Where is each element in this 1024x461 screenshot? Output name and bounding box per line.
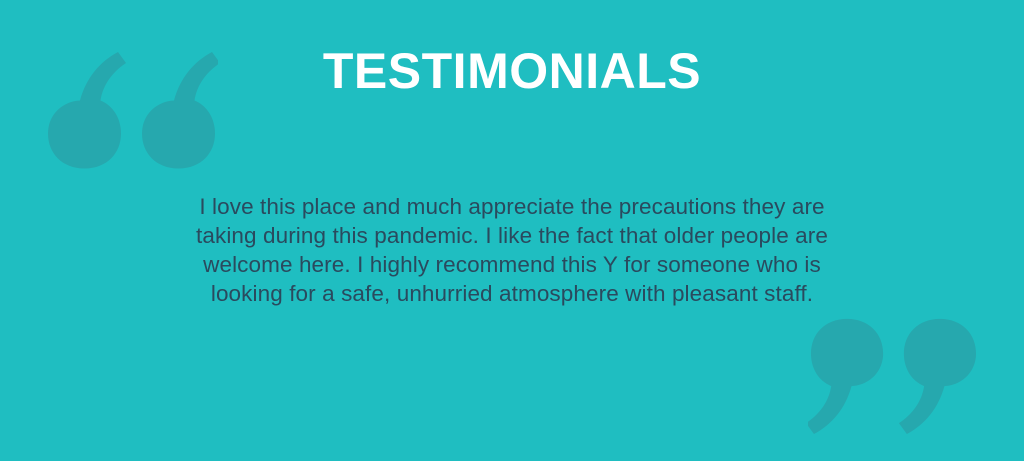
close-quote-icon xyxy=(808,316,978,436)
testimonials-banner: TESTIMONIALS I love this place and much … xyxy=(0,0,1024,461)
quote-line: looking for a safe, unhurried atmosphere… xyxy=(0,279,1024,308)
quote-line: taking during this pandemic. I like the … xyxy=(0,221,1024,250)
quote-line: welcome here. I highly recommend this Y … xyxy=(0,250,1024,279)
testimonial-quote-text: I love this place and much appreciate th… xyxy=(0,192,1024,308)
page-title: TESTIMONIALS xyxy=(0,43,1024,101)
quote-line: I love this place and much appreciate th… xyxy=(0,192,1024,221)
